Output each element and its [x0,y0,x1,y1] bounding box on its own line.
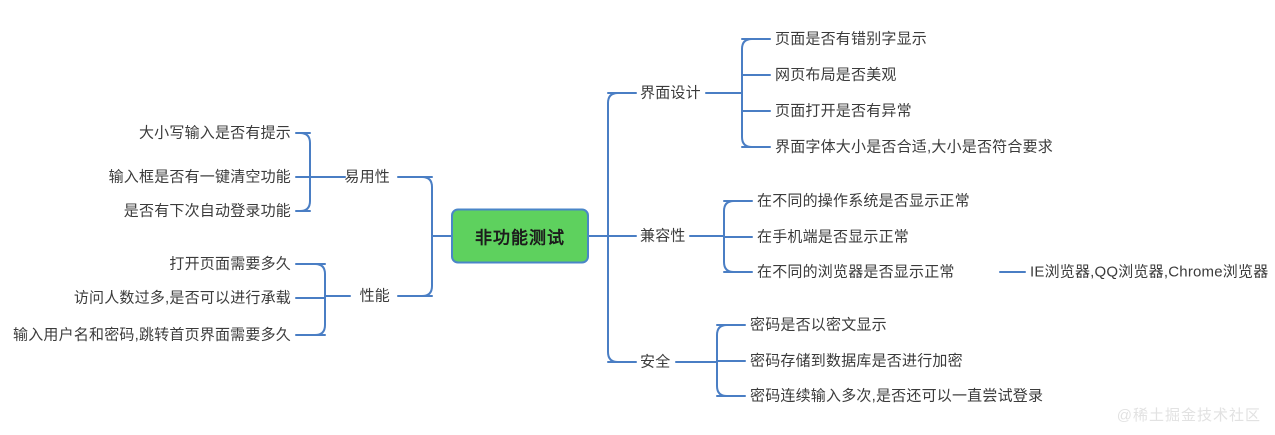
leaf-ui-design-1[interactable]: 网页布局是否美观 [775,68,897,83]
branch-label-security[interactable]: 安全 [640,355,670,370]
leaf-compatibility-0[interactable]: 在不同的操作系统是否显示正常 [757,194,970,209]
leaf-usability-0[interactable]: 大小写输入是否有提示 [139,126,291,141]
leaf-compatibility-2-detail[interactable]: IE浏览器,QQ浏览器,Chrome浏览器 [1030,265,1268,280]
mindmap-canvas: 非功能测试 易用性 大小写输入是否有提示 输入框是否有一键清空功能 是否有下次自… [0,0,1275,435]
leaf-performance-1[interactable]: 访问人数过多,是否可以进行承载 [74,291,291,306]
leaf-compatibility-1[interactable]: 在手机端是否显示正常 [757,230,909,245]
branch-label-compatibility[interactable]: 兼容性 [640,229,686,244]
leaf-ui-design-0[interactable]: 页面是否有错别字显示 [775,32,927,47]
leaf-security-1[interactable]: 密码存储到数据库是否进行加密 [750,354,963,369]
leaf-security-0[interactable]: 密码是否以密文显示 [750,318,887,333]
leaf-ui-design-2[interactable]: 页面打开是否有异常 [775,104,912,119]
branch-label-ui-design[interactable]: 界面设计 [640,86,701,101]
leaf-usability-2[interactable]: 是否有下次自动登录功能 [124,204,291,219]
leaf-ui-design-3[interactable]: 界面字体大小是否合适,大小是否符合要求 [775,140,1053,155]
leaf-usability-1[interactable]: 输入框是否有一键清空功能 [109,170,291,185]
leaf-security-2[interactable]: 密码连续输入多次,是否还可以一直尝试登录 [750,389,1043,404]
leaf-performance-2[interactable]: 输入用户名和密码,跳转首页界面需要多久 [13,328,291,343]
branch-label-performance[interactable]: 性能 [360,289,390,304]
branch-label-usability[interactable]: 易用性 [344,170,390,185]
watermark: @稀土掘金技术社区 [1117,404,1261,425]
root-node[interactable]: 非功能测试 [451,209,589,264]
leaf-performance-0[interactable]: 打开页面需要多久 [169,257,291,272]
leaf-compatibility-2[interactable]: 在不同的浏览器是否显示正常 [757,265,955,280]
